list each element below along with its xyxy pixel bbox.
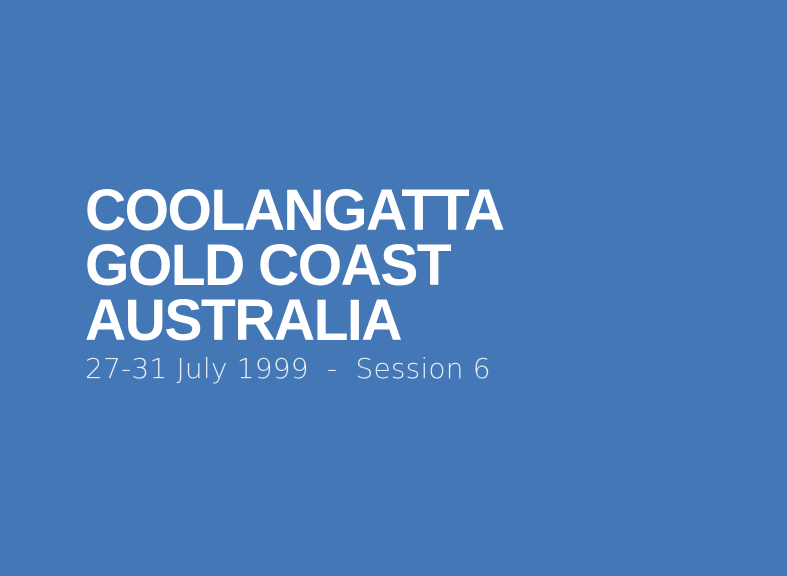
title-slide: COOLANGATTA GOLD COAST AUSTRALIA 27-31 J…	[0, 0, 787, 576]
title-line-2: GOLD COAST	[85, 238, 715, 293]
title-line-1: COOLANGATTA	[85, 183, 715, 238]
title-line-3: AUSTRALIA	[85, 293, 715, 348]
slide-title: COOLANGATTA GOLD COAST AUSTRALIA	[85, 183, 725, 348]
slide-subtitle: 27-31 July 1999 - Session 6	[85, 352, 491, 386]
